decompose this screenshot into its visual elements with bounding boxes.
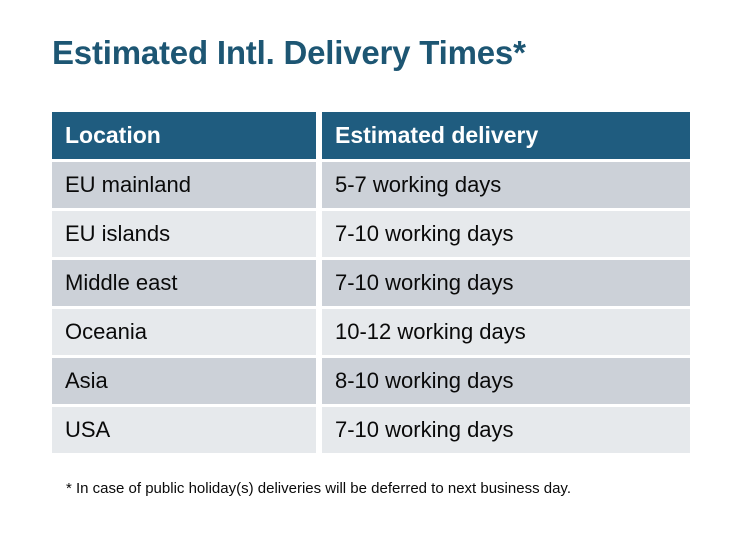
table-row: USA 7-10 working days bbox=[52, 407, 690, 453]
cell-delivery: 5-7 working days bbox=[322, 162, 690, 208]
table-row: Oceania 10-12 working days bbox=[52, 309, 690, 355]
table-row: Middle east 7-10 working days bbox=[52, 260, 690, 306]
cell-delivery: 7-10 working days bbox=[322, 211, 690, 257]
page-title: Estimated Intl. Delivery Times* bbox=[52, 34, 526, 72]
cell-location: EU mainland bbox=[52, 162, 316, 208]
cell-location: EU islands bbox=[52, 211, 316, 257]
table-row: EU mainland 5-7 working days bbox=[52, 162, 690, 208]
table-row: Asia 8-10 working days bbox=[52, 358, 690, 404]
delivery-times-table: Location Estimated delivery EU mainland … bbox=[52, 112, 690, 453]
cell-location: Oceania bbox=[52, 309, 316, 355]
column-header-estimated-delivery: Estimated delivery bbox=[322, 112, 690, 159]
cell-location: Asia bbox=[52, 358, 316, 404]
table-header-row: Location Estimated delivery bbox=[52, 112, 690, 159]
footnote-text: * In case of public holiday(s) deliverie… bbox=[66, 479, 571, 499]
cell-delivery: 10-12 working days bbox=[322, 309, 690, 355]
cell-delivery: 7-10 working days bbox=[322, 260, 690, 306]
cell-location: Middle east bbox=[52, 260, 316, 306]
cell-location: USA bbox=[52, 407, 316, 453]
cell-delivery: 8-10 working days bbox=[322, 358, 690, 404]
table-row: EU islands 7-10 working days bbox=[52, 211, 690, 257]
delivery-times-page: Estimated Intl. Delivery Times* Location… bbox=[0, 0, 745, 536]
column-header-location: Location bbox=[52, 112, 316, 159]
cell-delivery: 7-10 working days bbox=[322, 407, 690, 453]
